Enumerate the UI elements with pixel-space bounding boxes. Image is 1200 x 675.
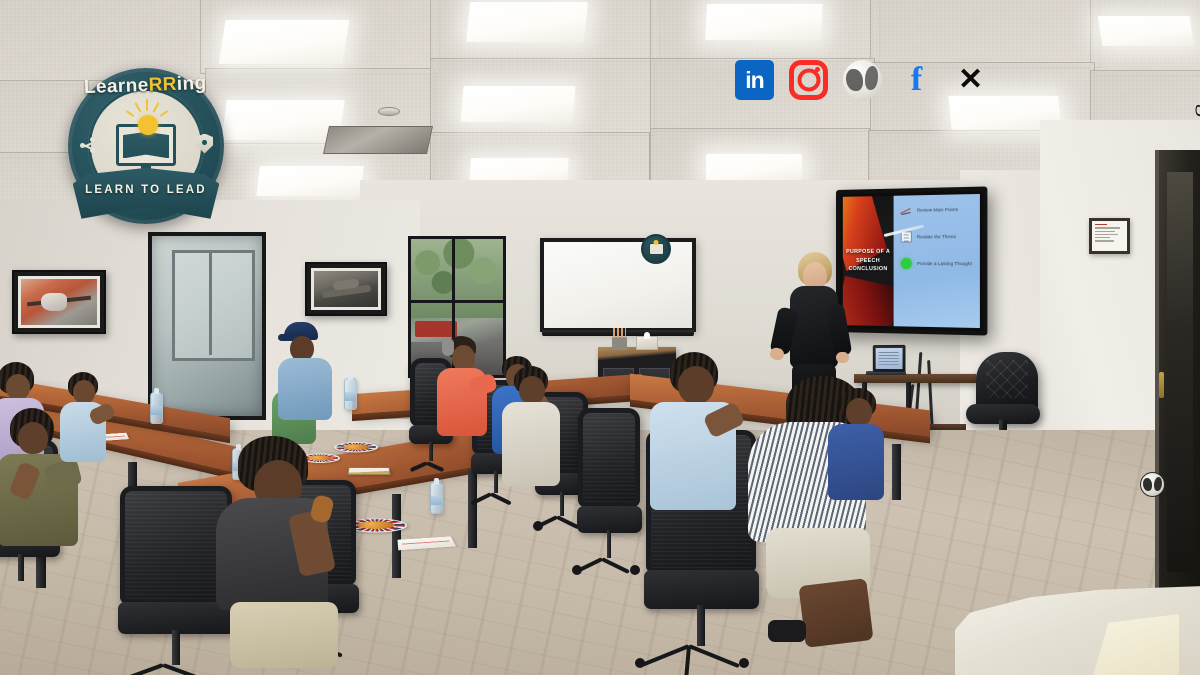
slide-bullet-text: Provide a Lasting Thought — [917, 261, 972, 266]
classroom-photo: PURPOSE OF ASPEECHCONCLUSION Review Main… — [0, 0, 1200, 675]
ceiling-light-panel — [466, 2, 588, 42]
ceiling-light-panel — [705, 4, 823, 40]
social-icon-bar: in f ✕ — [735, 56, 990, 104]
student-far-right — [828, 388, 892, 506]
logo-word-part-1: Learne — [84, 75, 149, 99]
whiteboard-logo-seal — [641, 234, 671, 264]
tissue-box — [636, 336, 658, 350]
office-chair[interactable] — [578, 408, 640, 568]
smoke-detector-icon — [378, 107, 400, 116]
presenter-hand-right — [836, 352, 849, 363]
open-book-icon — [123, 132, 170, 159]
student-coral — [436, 336, 494, 440]
green-circle-icon — [901, 258, 912, 269]
framed-aircraft-photo — [305, 262, 387, 316]
logo-tagline: LEARN TO LEAD — [85, 184, 207, 196]
interior-window — [148, 232, 266, 420]
laptop-computer[interactable] — [873, 345, 906, 372]
ceiling-light-panel — [256, 166, 364, 196]
ceiling-light-panel — [219, 20, 350, 64]
linkedin-glyph: in — [745, 67, 763, 94]
slide-bullet: Provide a Lasting Thought — [901, 258, 975, 270]
slide-bullet-text: Review Main Points — [917, 207, 958, 213]
student-blue-small — [58, 372, 114, 468]
marker-cup — [612, 337, 627, 350]
x-twitter-icon[interactable]: ✕ — [951, 60, 990, 100]
student-gray-dark — [216, 436, 350, 675]
slide-bullet: Restate the Thesis — [901, 231, 975, 243]
trend-chart-icon — [901, 205, 912, 216]
water-bottle — [430, 482, 443, 514]
x-glyph: ✕ — [958, 65, 983, 95]
logo-word-part-2: RR — [148, 74, 177, 97]
linkedin-icon[interactable]: in — [735, 60, 774, 100]
slide-title-panel: PURPOSE OF ASPEECHCONCLUSION — [843, 196, 894, 326]
slide-body-panel: Review Main Points Restate the Thesis Pr… — [893, 194, 979, 328]
student-white-tee — [500, 366, 566, 492]
door-handle[interactable] — [1159, 372, 1164, 398]
book — [347, 467, 390, 474]
facebook-glyph: f — [911, 63, 922, 97]
logo-word-part-3: ing — [176, 73, 206, 96]
water-bottle — [150, 392, 163, 424]
ceiling-light-panel — [1098, 16, 1195, 46]
globe-watermark-icon — [1140, 472, 1165, 497]
water-bottle — [344, 378, 357, 410]
slide-title: PURPOSE OF ASPEECHCONCLUSION — [846, 249, 890, 272]
ceiling-light-panel — [460, 86, 575, 122]
facebook-icon[interactable]: f — [897, 60, 936, 100]
whiteboard — [540, 238, 696, 332]
student-shorts — [230, 602, 338, 668]
student-navy-cap — [276, 322, 338, 422]
website-url-watermark: www.learnerring.com — [1194, 0, 1200, 170]
student-lightblue-tee — [648, 352, 744, 532]
document-icon — [901, 231, 912, 242]
framed-certificate — [1089, 218, 1130, 254]
learnerring-logo: LearneRRing LEARN TO LEAD — [68, 68, 224, 224]
framed-helicopter-photo — [12, 270, 106, 334]
air-vent — [323, 126, 433, 154]
instagram-icon[interactable] — [789, 60, 828, 100]
slide-bullet: Review Main Points — [901, 203, 975, 216]
slide-bullet-text: Restate the Thesis — [917, 234, 956, 239]
wall-mounted-tv: PURPOSE OF ASPEECHCONCLUSION Review Main… — [836, 186, 987, 335]
globe-icon[interactable] — [843, 60, 882, 100]
network-node-icon — [80, 137, 96, 153]
ceiling-light-panel — [706, 154, 802, 180]
